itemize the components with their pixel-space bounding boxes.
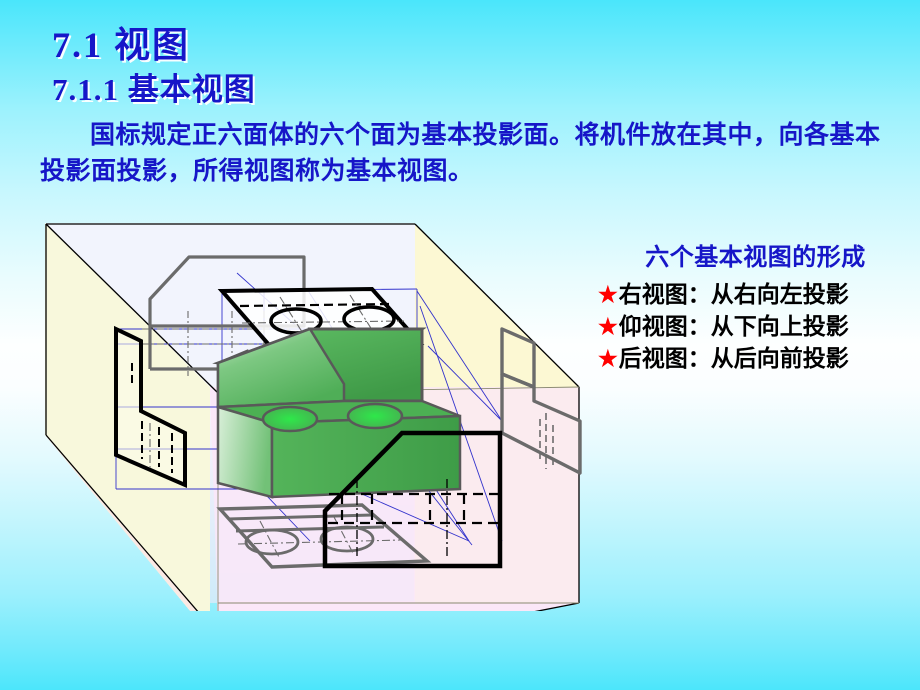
list-item-label: 右视图：从右向左投影 xyxy=(619,279,849,311)
caption-title: 六个基本视图的形成 xyxy=(598,243,913,273)
body-paragraph: 国标规定正六面体的六个面为基本投影面。将机件放在其中，向各基本投影面投影，所得视… xyxy=(40,118,900,190)
slide-canvas: 7.1 视图 7.1.1 基本视图 国标规定正六面体的六个面为基本投影面。将机件… xyxy=(0,0,920,690)
list-item-label: 后视图：从后向前投影 xyxy=(619,343,849,375)
caption-list: ★ 右视图：从右向左投影 ★ 仰视图：从下向上投影 ★ 后视图：从后向前投影 xyxy=(598,279,913,375)
bottom-front-band xyxy=(218,603,579,611)
solid-hole-right xyxy=(348,404,402,428)
star-icon: ★ xyxy=(598,348,618,370)
solid-hole-left xyxy=(263,407,317,431)
list-item: ★ 后视图：从后向前投影 xyxy=(598,343,913,375)
list-item: ★ 右视图：从右向左投影 xyxy=(598,279,913,311)
page-title: 7.1 视图 xyxy=(52,16,190,68)
caption-block: 六个基本视图的形成 ★ 右视图：从右向左投影 ★ 仰视图：从下向上投影 ★ 后视… xyxy=(598,243,913,375)
star-icon: ★ xyxy=(598,316,618,338)
list-item: ★ 仰视图：从下向上投影 xyxy=(598,311,913,343)
star-icon: ★ xyxy=(598,284,618,306)
list-item-label: 仰视图：从下向上投影 xyxy=(619,311,849,343)
section-subtitle: 7.1.1 基本视图 xyxy=(52,64,256,109)
projection-box-diagram xyxy=(32,211,592,611)
